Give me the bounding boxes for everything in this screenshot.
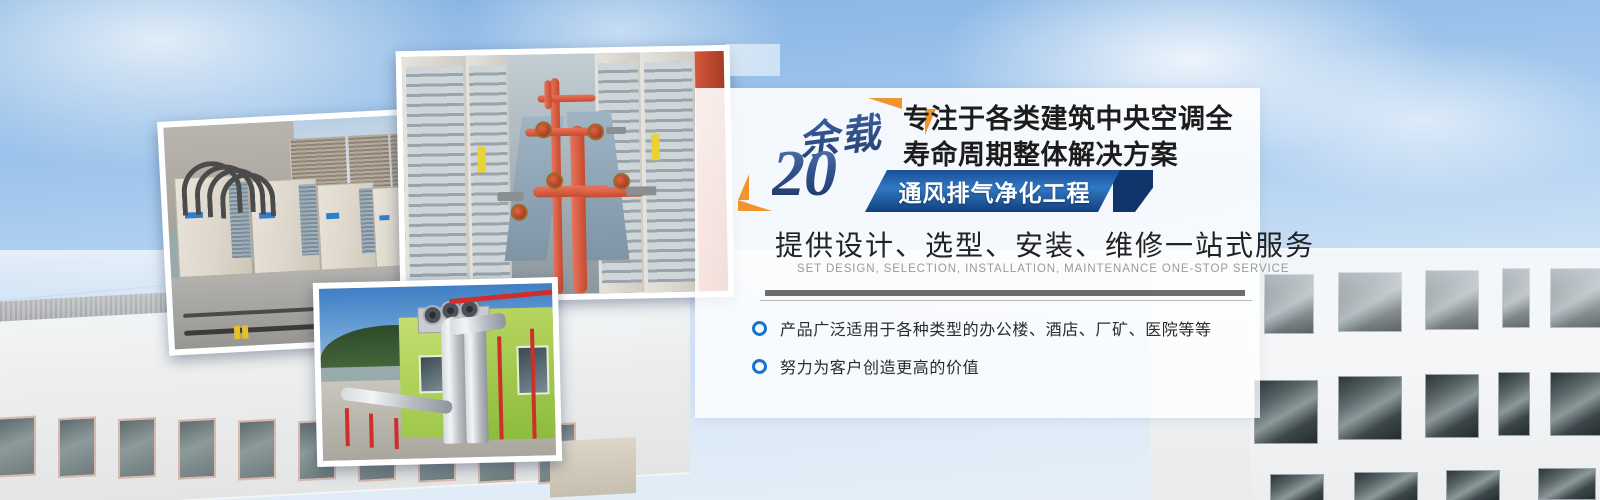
photo-insulated-rooftop-duct	[313, 277, 562, 467]
bullet-ring-icon	[752, 359, 767, 374]
corner-bracket-top-right-icon	[868, 98, 902, 109]
panel-accent-chip	[726, 44, 780, 76]
divider-thick	[765, 290, 1245, 296]
headline: 专注于各类建筑中央空调全寿命周期整体解决方案	[903, 101, 1253, 173]
list-item: 产品广泛适用于各种类型的办公楼、酒店、厂矿、医院等等	[752, 316, 1212, 340]
hvac-promo-banner: 余载 20 专注于各类建筑中央空调全寿命周期整体解决方案 通风排气净化工程 提供…	[0, 0, 1600, 500]
tagline: 提供设计、选型、安装、维修一站式服务	[775, 224, 1315, 264]
years-number: 20	[772, 141, 836, 207]
list-item-label: 产品广泛适用于各种类型的办公楼、酒店、厂矿、医院等等	[780, 316, 1212, 340]
tagline-english: SET DESIGN, SELECTION, INSTALLATION, MAI…	[797, 263, 1289, 275]
service-ribbon: 通风排气净化工程	[865, 170, 1120, 212]
divider-thin	[760, 300, 1252, 301]
bullet-ring-icon	[752, 321, 767, 336]
photo-chiller-red-piping	[396, 45, 735, 303]
list-item-label: 努力为客户创造更高的价值	[780, 354, 979, 378]
feature-bullet-list: 产品广泛适用于各种类型的办公楼、酒店、厂矿、医院等等 努力为客户创造更高的价值	[752, 316, 1212, 392]
list-item: 努力为客户创造更高的价值	[752, 354, 1212, 378]
corner-bracket-bottom-left-icon	[738, 200, 772, 211]
service-ribbon-label: 通风排气净化工程	[865, 170, 1120, 212]
